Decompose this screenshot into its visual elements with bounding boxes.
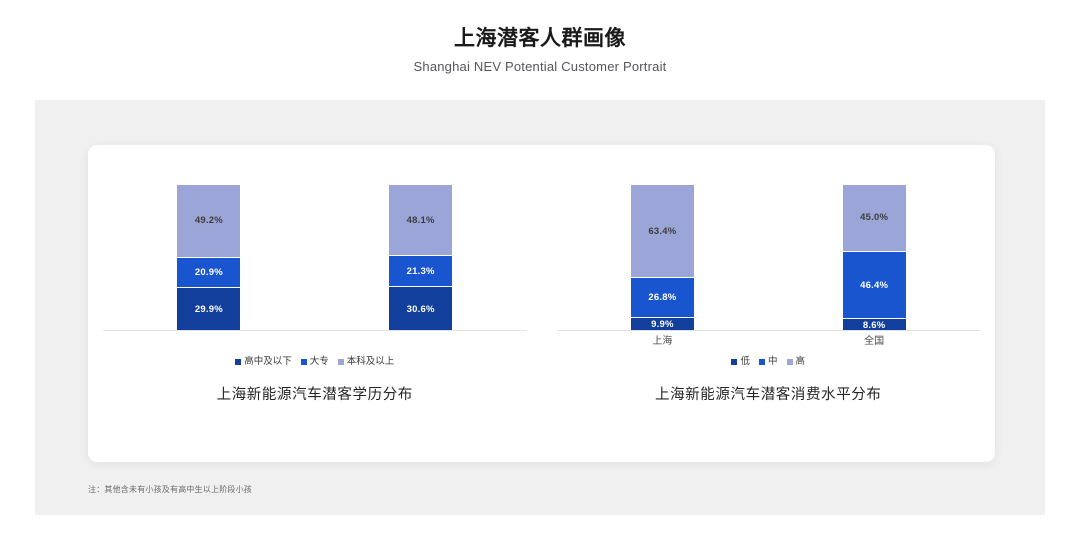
- bar-segment-value: 20.9%: [195, 267, 223, 278]
- bar-segment-value: 49.2%: [195, 215, 223, 226]
- legend-education: 高中及以下大专本科及以上: [88, 357, 542, 367]
- bar-segment-value: 45.0%: [860, 212, 888, 223]
- legend-label: 高: [796, 357, 806, 367]
- legend-item[interactable]: 高: [787, 357, 806, 367]
- bar-segment: 20.9%: [177, 257, 240, 288]
- footnote: 注：其他含未有小孩及有高中生以上阶段小孩: [88, 484, 995, 495]
- bar-segment-value: 63.4%: [648, 226, 676, 237]
- legend-consumption: 低中高: [542, 357, 996, 367]
- page-header: 上海潜客人群画像 Shanghai NEV Potential Customer…: [0, 0, 1080, 74]
- legend-swatch-icon: [759, 359, 765, 365]
- legend-item[interactable]: 高中及以下: [235, 357, 292, 367]
- legend-label: 低: [740, 357, 750, 367]
- stacked-bar: 45.0%46.4%8.6%: [843, 185, 906, 331]
- bar-segment: 26.8%: [631, 277, 694, 316]
- category-label: 上海: [631, 332, 694, 348]
- bar-segment-value: 46.4%: [860, 280, 888, 291]
- plot-area-education: 49.2%20.9%29.9%48.1%21.3%30.6%: [88, 185, 542, 331]
- bar-segment: 21.3%: [389, 255, 452, 286]
- legend-item[interactable]: 本科及以上: [338, 357, 395, 367]
- bar-segment-value: 21.3%: [407, 266, 435, 277]
- charts-card: 49.2%20.9%29.9%48.1%21.3%30.6% 高中及以下大专本科…: [88, 145, 995, 462]
- legend-label: 大专: [310, 357, 329, 367]
- stacked-bar: 49.2%20.9%29.9%: [177, 185, 240, 331]
- bar-segment: 29.9%: [177, 287, 240, 331]
- legend-swatch-icon: [787, 359, 793, 365]
- bar-segment: 45.0%: [843, 185, 906, 251]
- content-panel: 49.2%20.9%29.9%48.1%21.3%30.6% 高中及以下大专本科…: [35, 100, 1045, 515]
- chart-caption-education: 上海新能源汽车潜客学历分布: [88, 383, 542, 404]
- stacked-bar: 63.4%26.8%9.9%: [631, 185, 694, 331]
- legend-label: 中: [768, 357, 778, 367]
- chart-consumption-distribution: 63.4%26.8%9.9%45.0%46.4%8.6% 上海全国 低中高 上海…: [542, 145, 996, 415]
- category-labels-education: [103, 332, 527, 348]
- category-labels-consumption: 上海全国: [557, 332, 981, 348]
- bar-segment-value: 30.6%: [407, 304, 435, 315]
- chart-caption-consumption: 上海新能源汽车潜客消费水平分布: [542, 383, 996, 404]
- stacked-bar: 48.1%21.3%30.6%: [389, 185, 452, 331]
- chart-education-distribution: 49.2%20.9%29.9%48.1%21.3%30.6% 高中及以下大专本科…: [88, 145, 542, 415]
- plot-area-consumption: 63.4%26.8%9.9%45.0%46.4%8.6%: [542, 185, 996, 331]
- bar-segment-value: 48.1%: [407, 215, 435, 226]
- page-subtitle: Shanghai NEV Potential Customer Portrait: [0, 52, 1080, 74]
- legend-label: 本科及以上: [347, 357, 395, 367]
- bar-segment: 46.4%: [843, 251, 906, 319]
- bar-segment-value: 29.9%: [195, 304, 223, 315]
- category-label: 全国: [843, 332, 906, 348]
- legend-item[interactable]: 大专: [301, 357, 329, 367]
- axis-line-consumption: [557, 330, 981, 331]
- legend-swatch-icon: [731, 359, 737, 365]
- bar-segment: 48.1%: [389, 185, 452, 255]
- legend-item[interactable]: 低: [731, 357, 750, 367]
- legend-swatch-icon: [338, 359, 344, 365]
- bars-container-consumption: 63.4%26.8%9.9%45.0%46.4%8.6%: [557, 185, 981, 331]
- legend-swatch-icon: [235, 359, 241, 365]
- bars-container-education: 49.2%20.9%29.9%48.1%21.3%30.6%: [103, 185, 527, 331]
- category-label: [389, 332, 452, 348]
- bar-segment: 49.2%: [177, 185, 240, 257]
- bar-segment-value: 26.8%: [648, 292, 676, 303]
- bar-segment-value: 9.9%: [651, 319, 673, 330]
- legend-swatch-icon: [301, 359, 307, 365]
- bar-segment: 9.9%: [631, 317, 694, 331]
- bar-segment: 30.6%: [389, 286, 452, 331]
- charts-row: 49.2%20.9%29.9%48.1%21.3%30.6% 高中及以下大专本科…: [88, 145, 995, 415]
- page-title: 上海潜客人群画像: [0, 0, 1080, 52]
- legend-label: 高中及以下: [244, 357, 292, 367]
- legend-item[interactable]: 中: [759, 357, 778, 367]
- category-label: [177, 332, 240, 348]
- axis-line-education: [103, 330, 527, 331]
- bar-segment: 63.4%: [631, 185, 694, 277]
